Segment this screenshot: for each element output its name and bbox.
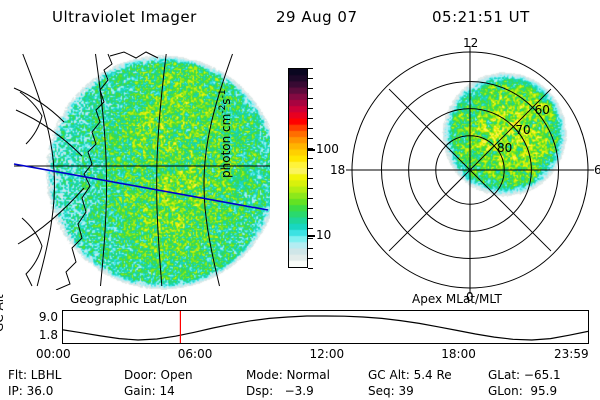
orbit-time-tick-label: 06:00 [178,348,213,360]
status-gain: Gain: 14 [124,385,175,397]
polar-grid-overlay [344,44,596,296]
page-title: Ultraviolet Imager [52,8,197,26]
polar-latitude-label: 60 [535,103,550,117]
magnetic-polar-panel [344,44,596,296]
orbit-alt-low-label: 1.8 [24,329,58,341]
colorbar-minor-tick [308,128,313,129]
colorbar-minor-tick [308,198,313,199]
colorbar-gradient [289,69,307,267]
orbit-curve-path [63,316,588,340]
status-dsp: Dsp: −3.9 [246,385,314,397]
colorbar-major-tick [308,149,315,151]
orbit-time-tick-label: 23:59 [554,348,589,360]
colorbar-minor-tick [308,98,313,99]
orbit-time-tick-label: 12:00 [310,348,345,360]
colorbar-minor-tick [308,78,313,79]
colorbar-minor-tick [308,208,313,209]
colorbar-label-exp1: -2 [218,105,228,114]
colorbar-minor-tick [308,138,313,139]
observation-date: 29 Aug 07 [276,8,358,26]
orbit-altitude-curve [63,311,588,343]
status-glon: GLon: 95.9 [488,385,557,397]
status-flt: Flt: LBHL [8,369,61,381]
map-line [22,218,42,286]
colorbar [288,68,308,268]
colorbar-label-mid: s [219,98,233,104]
colorbar-minor-tick [308,68,313,69]
map-line [157,54,167,286]
colorbar-minor-tick [308,88,313,89]
colorbar-minor-tick [308,188,313,189]
colorbar-minor-tick [308,238,313,239]
colorbar-minor-tick [308,268,313,269]
colorbar-minor-tick [308,118,313,119]
status-seq: Seq: 39 [368,385,414,397]
status-gc-alt: GC Alt: 5.4 Re [368,369,452,381]
polar-mlt-label: 6 [594,163,600,177]
orbit-y-axis-label: GC Alt [0,316,6,332]
colorbar-tick-label: 100 [316,143,339,155]
uv-imager-display: { "header": { "title": "Ultraviolet Imag… [0,0,600,400]
colorbar-minor-tick [308,178,313,179]
status-ip: IP: 36.0 [8,385,53,397]
colorbar-tick-label: 10 [316,229,331,241]
polar-mlt-label: 12 [463,36,478,50]
geographic-panel-caption: Geographic Lat/Lon [70,292,187,306]
map-line [20,92,42,144]
status-door: Door: Open [124,369,193,381]
polar-latitude-label: 70 [515,123,530,137]
orbit-alt-high-label: 9.0 [24,311,58,323]
status-glat: GLat: −65.1 [488,369,561,381]
colorbar-minor-tick [308,168,313,169]
observation-time: 05:21:51 UT [432,8,530,26]
polar-latitude-label: 80 [497,141,512,155]
magnetic-panel-caption: Apex MLat/MLT [412,292,502,306]
colorbar-minor-tick [308,228,313,229]
orbit-altitude-plot [62,310,589,344]
colorbar-label-main: photon cm [219,114,233,178]
map-line [110,52,158,58]
colorbar-axis-label: photon cm-2s-1 [217,162,233,178]
map-line [18,188,84,244]
colorbar-major-tick [308,235,315,237]
colorbar-minor-tick [308,108,313,109]
orbit-time-tick-label: 00:00 [36,348,71,360]
polar-mlt-label: 18 [330,163,345,177]
status-mode: Mode: Normal [246,369,330,381]
colorbar-minor-tick [308,248,313,249]
colorbar-label-exp2: -1 [218,89,228,98]
colorbar-minor-tick [308,218,313,219]
orbit-time-tick-label: 18:00 [441,348,476,360]
colorbar-minor-tick [308,158,313,159]
colorbar-minor-tick [308,258,313,259]
